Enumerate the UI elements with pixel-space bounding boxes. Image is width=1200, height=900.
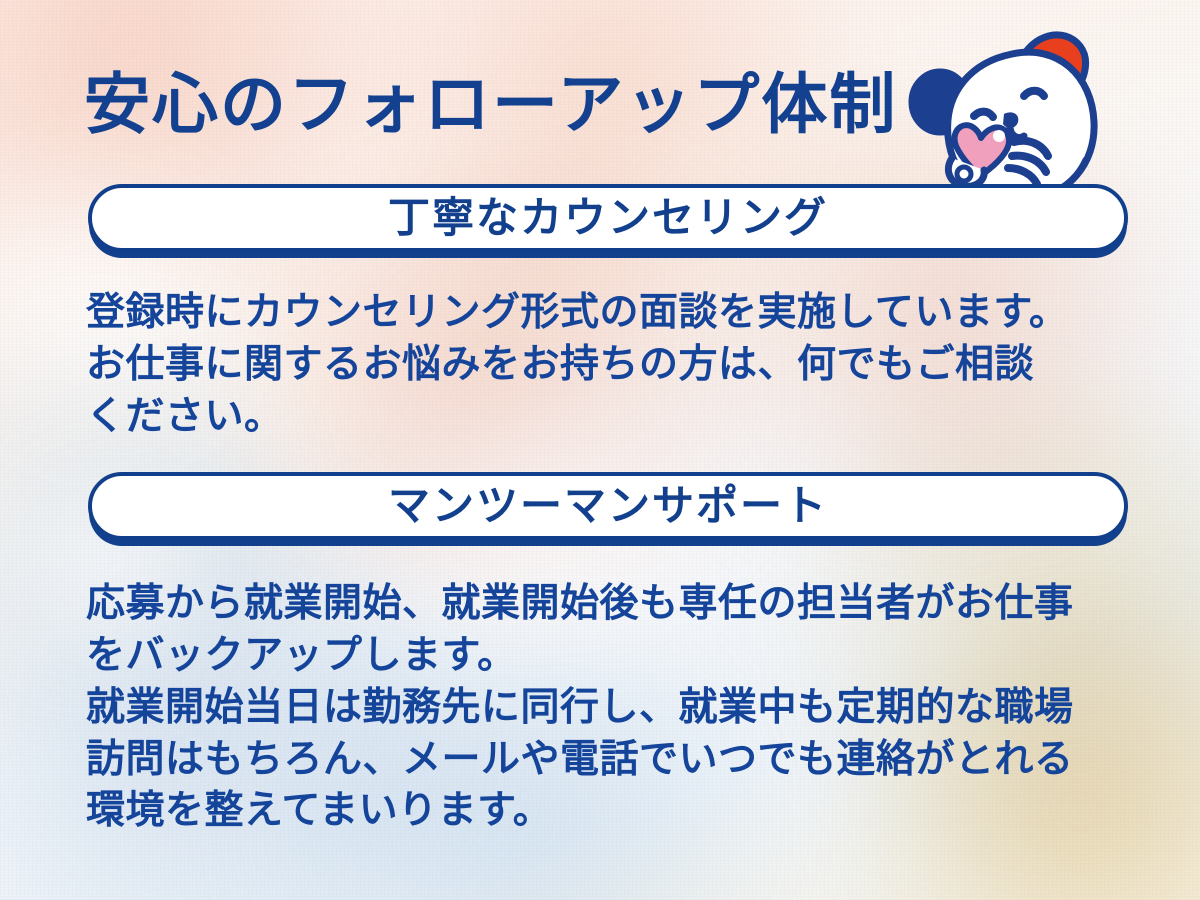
body-line: をバックアップします。: [86, 630, 1146, 682]
body-line: ください。: [86, 391, 1146, 443]
section-heading-pill-label: マンツーマンサポート: [388, 485, 828, 527]
body-line: 環境を整えてまいります。: [86, 785, 1146, 837]
poster-canvas: 安心のフォローアップ体制: [0, 0, 1200, 900]
section-heading-pill-one-on-one-support[interactable]: マンツーマンサポート: [88, 472, 1128, 540]
section-body-one-on-one-support: 応募から就業開始、就業開始後も専任の担当者がお仕事 をバックアップします。 就業…: [86, 578, 1146, 837]
paragraph: 応募から就業開始、就業開始後も専任の担当者がお仕事 をバックアップします。: [86, 578, 1146, 682]
body-line: お仕事に関するお悩みをお持ちの方は、何でもご相談: [86, 339, 1146, 391]
body-line: 訪問はもちろん、メールや電話でいつでも連絡がとれる: [86, 734, 1146, 786]
body-line: 応募から就業開始、就業開始後も専任の担当者がお仕事: [86, 578, 1146, 630]
poster-content: 安心のフォローアップ体制: [0, 0, 1200, 900]
section-heading-pill-counseling[interactable]: 丁寧なカウンセリング: [88, 184, 1128, 252]
section-heading-pill-label: 丁寧なカウンセリング: [388, 197, 828, 239]
paragraph: 就業開始当日は勤務先に同行し、就業中も定期的な職場 訪問はもちろん、メールや電話…: [86, 682, 1146, 838]
body-line: 就業開始当日は勤務先に同行し、就業中も定期的な職場: [86, 682, 1146, 734]
page-title: 安心のフォローアップ体制: [84, 70, 964, 139]
section-body-counseling: 登録時にカウンセリング形式の面談を実施しています。 お仕事に関するお悩みをお持ち…: [86, 287, 1146, 443]
paragraph: 登録時にカウンセリング形式の面談を実施しています。 お仕事に関するお悩みをお持ち…: [86, 287, 1146, 443]
body-line: 登録時にカウンセリング形式の面談を実施しています。: [86, 287, 1146, 339]
bear-with-heart-mascot-icon: [908, 18, 1120, 208]
